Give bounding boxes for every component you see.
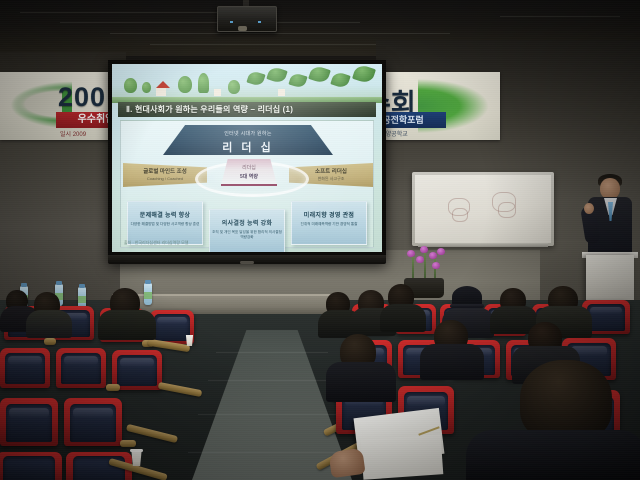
house-icon xyxy=(214,89,221,96)
diagram-wing-left-title: 글로벌 마인드 조성 xyxy=(123,163,207,175)
diagram-box-title: 미래지향 경영 관점 xyxy=(292,202,366,219)
ceiling-line xyxy=(60,22,360,23)
ceiling-projector xyxy=(217,6,277,32)
whiteboard xyxy=(412,172,554,246)
diagram-wing-left: 글로벌 마인드 조성 Coaching / Coached xyxy=(123,163,207,187)
bottle-label xyxy=(78,296,86,303)
auditorium-seat xyxy=(64,398,122,446)
diagram-core-underline xyxy=(221,184,277,186)
attendee-shoulders xyxy=(326,362,396,402)
tree-icon xyxy=(228,80,240,94)
bottle-cap xyxy=(145,280,151,284)
attendee-hand xyxy=(328,448,365,478)
ceiling-line xyxy=(500,16,620,17)
seat-sheen xyxy=(64,356,98,365)
attendee-shoulders xyxy=(26,310,72,338)
aisle-step xyxy=(188,452,356,453)
diagram-box-sub: 다양한 해결방법 및 다양한 사고역량 향상 훈련 xyxy=(128,219,202,227)
orchid-bloom xyxy=(407,250,415,257)
leaf-icon xyxy=(288,72,307,89)
house-icon xyxy=(278,89,285,96)
aisle-step xyxy=(208,380,336,381)
auditorium-seat xyxy=(56,348,106,388)
diagram-box-sub: 진취적 미래예측역량 기반 경영적 통찰 xyxy=(292,219,366,227)
seat-armrest xyxy=(44,338,56,345)
diagram-box-sub: 조직 및 개인 목표 달성을 위한 합리적 의사결정 역량강화 xyxy=(210,227,284,241)
auditorium-seat xyxy=(0,398,58,446)
screen-pull-knob xyxy=(240,261,254,264)
auditorium-seat xyxy=(0,348,50,388)
diagram-box-title: 문제해결 능력 향상 xyxy=(128,202,202,219)
orchid-bloom xyxy=(432,262,440,269)
banner-year: 200 xyxy=(58,82,106,113)
whiteboard-writing xyxy=(498,202,516,218)
tree-icon xyxy=(124,78,137,93)
ceiling-line xyxy=(110,33,450,34)
seat-sheen xyxy=(8,356,42,365)
diagram-box-title: 의사결정 능력 강화 xyxy=(210,210,284,227)
tree-icon xyxy=(198,73,209,93)
handout-paper-page xyxy=(361,434,444,479)
leaf-icon xyxy=(352,64,376,85)
slide-title: Ⅱ. 현대사회가 원하는 우리들의 역량 – 리더십 (1) xyxy=(118,102,376,117)
aisle-step xyxy=(198,414,346,415)
tree-icon xyxy=(142,82,151,93)
slide-footer: 출처 : 한국리더십센터 리더십역량 모델 xyxy=(124,240,188,246)
banner-date: 일시 2009 xyxy=(60,129,86,138)
tree-icon xyxy=(178,76,192,93)
bottle-cap xyxy=(56,281,62,285)
diagram-box: 문제해결 능력 향상 다양한 해결방법 및 다양한 사고역량 향상 훈련 xyxy=(127,201,203,245)
slide-decorative-header xyxy=(112,64,382,102)
attendee-shoulders xyxy=(420,344,484,380)
attendee-shoulders xyxy=(98,310,156,340)
diagram-core: 리더십 5대 역량 xyxy=(221,159,277,185)
slide-banner-main: 리 더 십 xyxy=(163,137,333,155)
auditorium-seat xyxy=(112,350,162,390)
leaf-icon xyxy=(246,70,265,87)
seat-sheen xyxy=(157,317,187,324)
attendee-shoulders xyxy=(380,304,426,332)
seat-sheen xyxy=(590,307,623,314)
seat-sheen xyxy=(9,408,48,419)
seat-cushion xyxy=(3,456,56,480)
auditorium-seat xyxy=(0,452,62,480)
banner-swoosh-left-inner xyxy=(4,84,62,124)
orchid-bloom xyxy=(437,248,445,255)
leaf-icon xyxy=(266,66,287,85)
aisle-step xyxy=(216,352,328,353)
coffee-cup-rim xyxy=(130,449,143,452)
seat-sheen xyxy=(407,396,445,407)
presenter-hand xyxy=(584,203,594,214)
attendee-shoulders xyxy=(466,430,640,480)
bottle-label xyxy=(144,292,152,299)
whiteboard-marker-tray xyxy=(418,243,548,247)
diagram-core-main: 5대 역량 xyxy=(221,171,277,180)
leaf-icon xyxy=(330,71,350,90)
whiteboard-writing xyxy=(452,208,468,222)
ceiling-line xyxy=(20,12,250,13)
leaf-icon xyxy=(308,64,331,84)
bottle-cap xyxy=(79,284,85,288)
seat-sheen xyxy=(73,408,112,419)
orchid-bloom xyxy=(429,252,437,259)
orchid-bloom xyxy=(420,246,428,253)
slide-banner-sub: 인터넷 시대가 원하는 xyxy=(163,125,333,137)
projector-lens xyxy=(238,26,247,31)
whiteboard-surface xyxy=(415,175,551,243)
lecture-hall-photo: 200 우수취업 일시 2009 수회 공전학포럼 대학교 한양공학교 xyxy=(0,0,640,480)
diagram-core-top: 리더십 xyxy=(221,159,277,171)
orchid-stem xyxy=(424,248,426,282)
diagram-box: 의사결정 능력 강화 조직 및 개인 목표 달성을 위한 합리적 의사결정 역량… xyxy=(209,209,285,252)
slide-diagram: 인터넷 시대가 원하는 리 더 십 글로벌 마인드 조성 Coaching / … xyxy=(120,120,374,248)
seat-sheen xyxy=(120,358,154,367)
orchid-bloom xyxy=(416,256,424,263)
slide-diagram-banner: 인터넷 시대가 원하는 리 더 십 xyxy=(163,125,333,155)
bottle-cap xyxy=(21,283,27,287)
seat-armrest xyxy=(106,384,120,391)
projected-slide: Ⅱ. 현대사회가 원하는 우리들의 역량 – 리더십 (1) 인터넷 시대가 원… xyxy=(112,64,382,252)
house-icon xyxy=(156,88,166,96)
house-roof-icon xyxy=(156,81,170,88)
diagram-box: 미래지향 경영 관점 진취적 미래예측역량 기반 경영적 통찰 xyxy=(291,201,367,245)
seat-armrest xyxy=(120,440,136,447)
projector-led xyxy=(258,21,261,23)
presenter-head xyxy=(600,178,620,199)
projector-led xyxy=(230,21,233,23)
